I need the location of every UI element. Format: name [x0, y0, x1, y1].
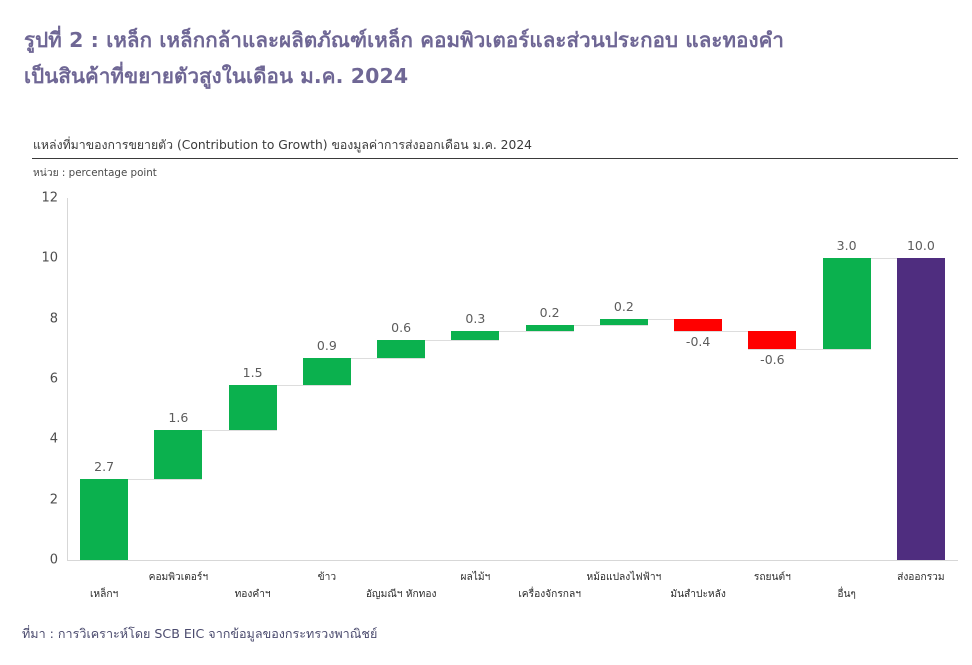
- chart-unit-label: หน่วย : percentage point: [33, 164, 157, 181]
- chart-subtitle: แหล่งที่มาของการขยายตัว (Contribution to…: [33, 136, 532, 155]
- bar-2: [154, 430, 202, 478]
- bar-10: [748, 331, 796, 349]
- bar-1: [80, 479, 128, 560]
- y-axis-tick-label: 4: [50, 432, 58, 447]
- figure-page: รูปที่ 2 : เหล็ก เหล็กกล้าและผลิตภัณฑ์เห…: [0, 0, 972, 665]
- y-axis-tick-label: 10: [41, 251, 58, 266]
- y-axis-tick-label: 6: [50, 372, 58, 387]
- bar-value-label: -0.6: [760, 352, 784, 367]
- page-title-line-1: รูปที่ 2 : เหล็ก เหล็กกล้าและผลิตภัณฑ์เห…: [24, 28, 784, 52]
- bar-5: [377, 340, 425, 358]
- waterfall-plot-area: 0246810122.71.61.50.90.60.30.20.2-0.4-0.…: [67, 198, 958, 560]
- x-axis-label: ผลไม้ฯ: [460, 569, 490, 585]
- bar-4: [303, 358, 351, 385]
- x-axis-label: ข้าว: [318, 569, 336, 585]
- page-title-line-2: เป็นสินค้าที่ขยายตัวสูงในเดือน ม.ค. 2024: [24, 58, 954, 94]
- x-axis-label: อัญมณีฯ หักทอง: [366, 586, 437, 602]
- x-axis-label: หม้อแปลงไฟฟ้าฯ: [586, 569, 661, 585]
- subtitle-divider: [32, 158, 958, 159]
- x-axis-label: รถยนต์ฯ: [754, 569, 791, 585]
- bar-value-label: 0.3: [465, 311, 485, 326]
- x-axis-label: ทองคำฯ: [235, 586, 271, 602]
- x-axis-label: อื่นๆ: [837, 586, 856, 602]
- x-axis-label: เหล็กฯ: [90, 586, 118, 602]
- bar-9: [674, 319, 722, 331]
- bar-value-label: 1.6: [168, 410, 188, 425]
- y-axis-tick-label: 12: [41, 191, 58, 206]
- x-axis-label: คอมพิวเตอร์ฯ: [149, 569, 209, 585]
- bar-8: [600, 319, 648, 325]
- bar-value-label: 10.0: [907, 238, 935, 253]
- y-axis-tick-label: 2: [50, 492, 58, 507]
- bar-7: [526, 325, 574, 331]
- page-title: รูปที่ 2 : เหล็ก เหล็กกล้าและผลิตภัณฑ์เห…: [24, 22, 954, 94]
- bar-value-label: -0.4: [686, 334, 710, 349]
- x-axis-label: เครื่องจักรกลฯ: [518, 586, 581, 602]
- bar-value-label: 0.9: [317, 338, 337, 353]
- bar-value-label: 0.2: [614, 299, 634, 314]
- y-axis-tick-label: 0: [50, 553, 58, 568]
- bar-value-label: 0.2: [540, 305, 560, 320]
- bar-value-label: 3.0: [837, 238, 857, 253]
- bar-6: [451, 331, 499, 340]
- bar-value-label: 2.7: [94, 459, 114, 474]
- x-axis-label: ส่งออกรวม: [897, 569, 945, 585]
- bar-3: [229, 385, 277, 430]
- x-axis-label: มันสำปะหลัง: [670, 586, 726, 602]
- waterfall-connector: [748, 349, 870, 350]
- x-axis-line: [67, 560, 958, 561]
- bar-value-label: 0.6: [391, 320, 411, 335]
- y-axis-tick-label: 8: [50, 311, 58, 326]
- bar-value-label: 1.5: [243, 365, 263, 380]
- bar-12: [897, 258, 945, 560]
- source-note: ที่มา : การวิเคราะห์โดย SCB EIC จากข้อมู…: [22, 624, 377, 644]
- bar-11: [823, 258, 871, 349]
